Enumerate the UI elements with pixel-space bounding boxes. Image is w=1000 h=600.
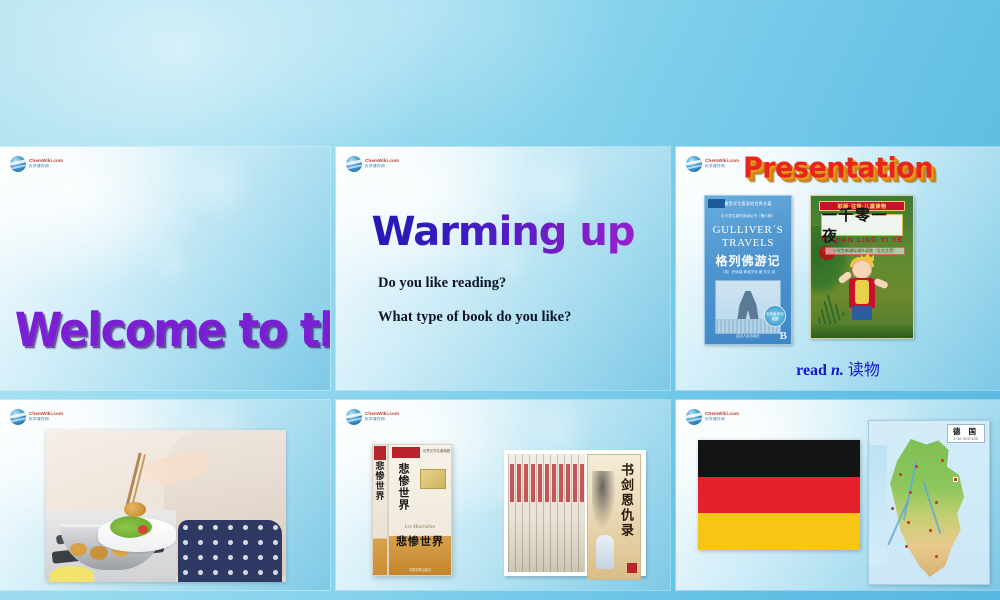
book-spine: 悲惨世界	[372, 444, 388, 576]
slide-germany[interactable]: ChemWiki.com 化学课件网	[676, 400, 1000, 590]
grass-decoration	[811, 324, 913, 338]
slide-cooking-photo[interactable]: ChemWiki.com 化学课件网	[0, 400, 330, 590]
vocab-pos: n.	[831, 362, 844, 379]
globe-icon	[10, 409, 26, 425]
map-title: 德 国	[953, 426, 979, 437]
book-cover-gullivers-travels: 最受学生喜爱的世界名著 中小学生课外阅读丛书（第六辑） GULLIVER´S T…	[704, 195, 792, 345]
apron	[178, 520, 282, 582]
book-title-pinyin: YI QIAN LING YI YE	[811, 237, 913, 244]
germany-map: 德 国 1:10 000 000	[868, 420, 990, 585]
slide-title: Presentation	[676, 152, 1000, 185]
book-publisher: 延边人民出版社	[705, 333, 791, 338]
question-item: What type of book do you like?	[378, 309, 571, 326]
map-title-box: 德 国 1:10 000 000	[947, 424, 985, 443]
book-title-en: GULLIVER´S TRAVELS	[705, 224, 791, 249]
book-publisher: 中国文联出版社	[389, 567, 451, 572]
vocab-line: read n. 读物	[676, 356, 1000, 380]
book-set-book-and-sword: 书剑恩仇录	[504, 450, 646, 576]
book-series-letter: B	[780, 330, 787, 342]
gulliver-figure-icon	[737, 291, 759, 321]
city-marker	[935, 555, 938, 558]
book-title-fr: Les Misérables	[389, 525, 451, 530]
question-item: Do you like reading?	[378, 275, 571, 292]
watermark-sub: 化学课件网	[705, 418, 739, 422]
bowl	[50, 566, 94, 582]
seal-icon	[627, 563, 637, 573]
globe-icon	[686, 409, 702, 425]
book-author: 〔英〕乔纳森·斯威夫特 著 刘文 译	[705, 270, 791, 275]
slide-book-sets[interactable]: ChemWiki.com 化学课件网 悲惨世界 世界文学名著典藏 悲惨世界	[336, 400, 670, 590]
map-scale: 1:10 000 000	[953, 437, 979, 441]
city-marker	[935, 501, 938, 504]
slide-grid: ChemWiki.com 化学课件网 Welcome to the unit C…	[0, 0, 1000, 600]
sea	[869, 445, 887, 565]
slide-warming-up[interactable]: ChemWiki.com 化学课件网 Warming up Do you lik…	[336, 147, 670, 390]
globe-icon	[10, 156, 26, 172]
book-series-cn: 世界文学名著典藏	[423, 448, 450, 453]
vocab-word: read	[796, 362, 827, 379]
landmass	[885, 439, 971, 577]
book-badge: 全新版 彩色插图	[764, 305, 786, 327]
book-front: 世界文学名著典藏 悲惨世界 Les Misérables 悲惨世界 中国文联出版…	[388, 444, 452, 576]
watermark-sub: 化学课件网	[365, 165, 399, 169]
book-title-cn: 悲惨世界	[389, 533, 451, 549]
slide-title: Warming up	[336, 209, 670, 255]
slide-thumbnail-board: ChemWiki.com 化学课件网 Welcome to the unit C…	[0, 0, 1000, 600]
germany-flag	[698, 440, 860, 550]
croquette	[124, 502, 146, 517]
watermark-logo: ChemWiki.com 化学课件网	[346, 156, 399, 172]
capital-marker	[953, 477, 958, 482]
city-marker	[929, 529, 932, 532]
slide-presentation[interactable]: ChemWiki.com 化学课件网 Presentation 最受学生喜爱的世…	[676, 147, 1000, 390]
watermark-logo: ChemWiki.com 化学课件网	[346, 409, 399, 425]
book-title-cn: 一千零一夜	[821, 214, 903, 236]
watermark-sub: 化学课件网	[29, 165, 63, 169]
slide-title: Welcome to the unit	[14, 303, 330, 358]
slide-welcome[interactable]: ChemWiki.com 化学课件网 Welcome to the unit	[0, 147, 330, 390]
book-vertical-title: 悲惨世界	[395, 463, 411, 511]
city-marker	[905, 545, 908, 548]
watermark-logo: ChemWiki.com 化学课件网	[10, 156, 63, 172]
cover-art	[420, 469, 446, 489]
watermark-sub: 化学课件网	[365, 418, 399, 422]
flag-band-gold	[698, 513, 860, 550]
flag-band-red	[698, 477, 860, 514]
book-sub-cn: 中小学生课外阅读丛书（第六辑）	[705, 214, 791, 219]
city-marker	[907, 521, 910, 524]
scholar-figure	[596, 535, 614, 569]
book-set-les-miserables: 悲惨世界 世界文学名著典藏 悲惨世界 Les Misérables 悲惨世界 中…	[372, 444, 452, 576]
vocab-meaning: 读物	[848, 362, 880, 379]
question-list: Do you like reading? What type of book d…	[378, 275, 571, 343]
cooking-photo	[46, 430, 286, 582]
book-title-cn: 格列佛游记	[705, 252, 791, 269]
watermark-logo: ChemWiki.com 化学课件网	[10, 409, 63, 425]
book-front: 书剑恩仇录	[587, 454, 641, 580]
city-marker	[891, 507, 894, 510]
prince-illustration	[839, 256, 885, 326]
spine-title: 悲惨世界	[374, 461, 387, 501]
ink-painting	[592, 471, 618, 535]
book-cover-row: 最受学生喜爱的世界名著 中小学生课外阅读丛书（第六辑） GULLIVER´S T…	[704, 195, 914, 345]
city-marker	[899, 473, 902, 476]
book-cover-one-thousand-and-one-nights: 彩版·注音·儿童读物 一千零一夜 YI QIAN LING YI YE 小学生新…	[810, 195, 914, 339]
city-marker	[915, 465, 918, 468]
flag-band-black	[698, 440, 860, 477]
globe-icon	[346, 156, 362, 172]
tomato	[138, 525, 148, 534]
watermark-sub: 化学课件网	[29, 418, 63, 422]
book-top-cn: 最受学生喜爱的世界名著	[705, 201, 791, 207]
book-spine-stack	[508, 454, 585, 572]
globe-icon	[346, 409, 362, 425]
book-strip-cn: 小学生新课标课外读物（全文注音）	[825, 247, 905, 255]
watermark-logo: ChemWiki.com 化学课件网	[686, 409, 739, 425]
book-title-cn: 书剑恩仇录	[617, 463, 636, 538]
book-set-row: 悲惨世界 世界文学名著典藏 悲惨世界 Les Misérables 悲惨世界 中…	[372, 444, 646, 576]
city-marker	[909, 491, 912, 494]
city-marker	[941, 459, 944, 462]
